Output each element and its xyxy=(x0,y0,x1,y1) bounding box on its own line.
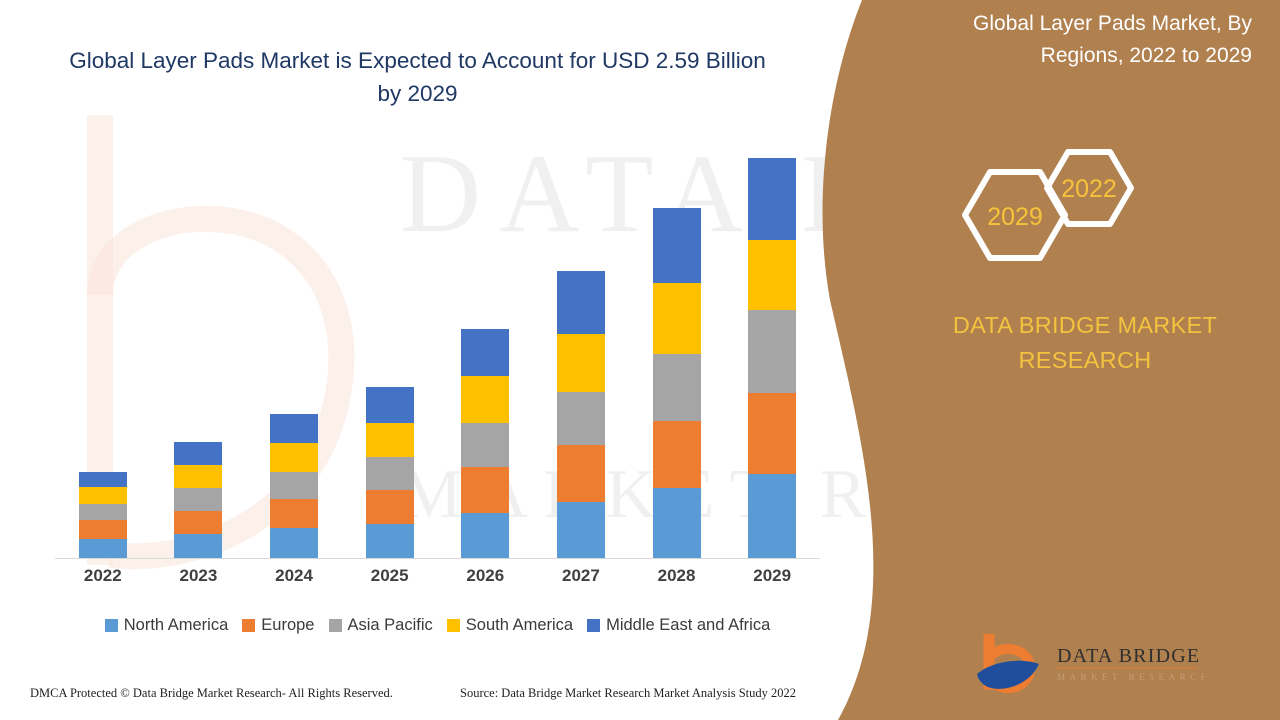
bar-segment xyxy=(461,376,509,423)
legend-item[interactable]: Asia Pacific xyxy=(329,616,433,635)
bar-segment xyxy=(748,310,796,393)
x-axis-tick-label: 2026 xyxy=(438,566,534,586)
x-axis-tick-label: 2025 xyxy=(342,566,438,586)
hex-badge-group: 2029 2022 xyxy=(955,138,1195,293)
bar-segment xyxy=(366,490,414,523)
legend-label: Middle East and Africa xyxy=(606,616,770,635)
bar-segment xyxy=(557,392,605,446)
legend-swatch-icon xyxy=(329,619,342,632)
bar-column xyxy=(342,150,438,558)
bar-segment xyxy=(174,465,222,489)
bar-segment xyxy=(653,283,701,354)
bar-segment xyxy=(366,524,414,558)
bar-segment xyxy=(79,539,127,558)
bar-segment xyxy=(174,534,222,558)
logo-b-mark-icon xyxy=(977,638,1039,689)
bar-segment xyxy=(270,414,318,443)
logo-tagline-text: MARKET RESEARCH xyxy=(1057,672,1205,682)
bar-segment xyxy=(174,442,222,465)
bar-column xyxy=(724,150,820,558)
x-axis-labels: 20222023202420252026202720282029 xyxy=(55,566,820,586)
bar-segment xyxy=(557,334,605,392)
bar-segment xyxy=(366,457,414,490)
legend-label: Asia Pacific xyxy=(348,616,433,635)
stacked-bar xyxy=(748,158,796,558)
bar-segment xyxy=(653,354,701,421)
x-axis-tick-label: 2023 xyxy=(151,566,247,586)
x-axis-tick-label: 2029 xyxy=(724,566,820,586)
bar-segment xyxy=(79,504,127,520)
bar-column xyxy=(151,150,247,558)
bar-column xyxy=(55,150,151,558)
bar-column xyxy=(629,150,725,558)
legend-swatch-icon xyxy=(105,619,118,632)
stacked-bar xyxy=(270,414,318,558)
bar-segment xyxy=(748,474,796,558)
bar-segment xyxy=(748,393,796,475)
stacked-bar xyxy=(461,329,509,558)
bar-segment xyxy=(461,423,509,467)
legend-swatch-icon xyxy=(447,619,460,632)
bar-segment xyxy=(270,472,318,499)
bar-segment xyxy=(748,240,796,310)
legend-label: North America xyxy=(124,616,229,635)
bar-segment xyxy=(557,445,605,502)
legend-swatch-icon xyxy=(242,619,255,632)
bar-segment xyxy=(174,511,222,535)
legend-item[interactable]: Middle East and Africa xyxy=(587,616,770,635)
bar-segment xyxy=(653,208,701,283)
bar-segment xyxy=(79,472,127,487)
bar-column xyxy=(533,150,629,558)
panel-title: Global Layer Pads Market, By Regions, 20… xyxy=(910,8,1270,72)
stacked-bar xyxy=(557,271,605,558)
x-axis-tick-label: 2022 xyxy=(55,566,151,586)
x-axis-tick-label: 2027 xyxy=(533,566,629,586)
bar-segment xyxy=(174,488,222,511)
bar-segment xyxy=(79,487,127,504)
report-infographic: DATA BRIDGE MARKET RESEARCH Global Layer… xyxy=(0,0,1280,720)
source-text: Source: Data Bridge Market Research Mark… xyxy=(460,686,796,701)
hex-badge-2029-label: 2029 xyxy=(987,203,1043,231)
bar-segment xyxy=(557,502,605,558)
bar-segment xyxy=(653,421,701,489)
bar-segment xyxy=(270,499,318,528)
bar-segment xyxy=(653,488,701,558)
bar-column xyxy=(246,150,342,558)
legend-item[interactable]: North America xyxy=(105,616,229,635)
legend-label: South America xyxy=(466,616,573,635)
bar-segment xyxy=(366,387,414,422)
hex-badge-2022-label: 2022 xyxy=(1061,175,1117,203)
legend-swatch-icon xyxy=(587,619,600,632)
x-axis-line xyxy=(55,558,820,559)
bar-segment xyxy=(366,423,414,457)
x-axis-tick-label: 2024 xyxy=(246,566,342,586)
x-axis-tick-label: 2028 xyxy=(629,566,725,586)
bar-segment xyxy=(79,520,127,538)
bar-segment xyxy=(461,467,509,513)
stacked-bar xyxy=(366,387,414,558)
bar-column xyxy=(438,150,534,558)
hex-badge-2022: 2022 xyxy=(1047,152,1131,224)
legend-item[interactable]: Europe xyxy=(242,616,314,635)
panel-content: Global Layer Pads Market, By Regions, 20… xyxy=(900,0,1280,720)
bar-segment xyxy=(461,513,509,558)
chart-legend: North AmericaEuropeAsia PacificSouth Ame… xyxy=(55,616,820,635)
page-title: Global Layer Pads Market is Expected to … xyxy=(55,44,780,110)
bar-segment xyxy=(270,528,318,558)
copyright-text: DMCA Protected © Data Bridge Market Rese… xyxy=(30,686,393,701)
stacked-bar xyxy=(653,208,701,558)
bar-segment xyxy=(748,158,796,241)
bar-segment xyxy=(461,329,509,375)
legend-label: Europe xyxy=(261,616,314,635)
stacked-bar xyxy=(174,442,222,558)
stacked-bar-chart xyxy=(55,150,820,558)
bar-segment xyxy=(557,271,605,333)
bar-segment xyxy=(270,443,318,472)
legend-item[interactable]: South America xyxy=(447,616,573,635)
data-bridge-logo: DATA BRIDGE MARKET RESEARCH xyxy=(975,634,1205,696)
brand-name: DATA BRIDGE MARKET RESEARCH xyxy=(900,308,1270,378)
stacked-bar xyxy=(79,472,127,558)
logo-name-text: DATA BRIDGE xyxy=(1057,645,1200,667)
